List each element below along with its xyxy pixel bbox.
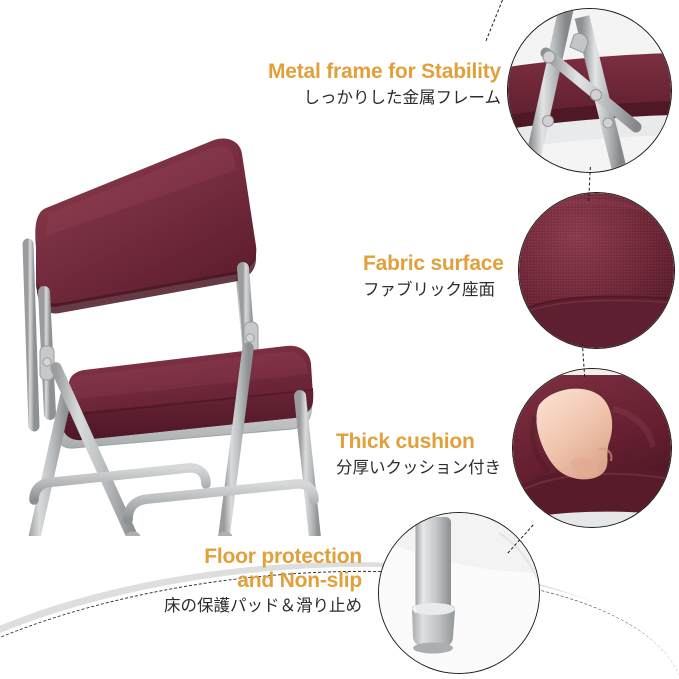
feature-title-en-line1: Floor protection [150,545,362,569]
feature-title-jp: 床の保護パッド＆滑り止め [150,596,362,616]
feature-title-en: Metal frame for Stability [243,60,501,84]
detail-circle-floor-protection [378,512,540,674]
detail-circle-thick-cushion [512,368,672,528]
connector-dash-top [486,0,503,41]
feature-label-thick-cushion: Thick cushion 分厚いクッション付き [336,430,526,477]
feature-label-fabric-surface: Fabric surface ファブリック座面 [363,252,523,299]
infographic-canvas: Metal frame for Stability しっかりした金属フレーム F… [0,0,679,679]
feature-label-floor-protection: Floor protection and Non-slip 床の保護パッド＆滑り… [150,545,362,616]
feature-title-en: Fabric surface [363,252,523,276]
feature-title-jp: ファブリック座面 [363,280,523,300]
feature-label-metal-frame: Metal frame for Stability しっかりした金属フレーム [243,60,501,107]
detail-circle-metal-frame [507,8,672,173]
detail-circle-fabric-surface [518,192,675,349]
feature-title-en: Thick cushion [336,430,526,454]
feature-title-jp: しっかりした金属フレーム [243,88,501,108]
feature-title-en-line2: and Non-slip [150,569,362,593]
feature-title-jp: 分厚いクッション付き [336,458,526,478]
main-chair-photo [0,96,350,536]
